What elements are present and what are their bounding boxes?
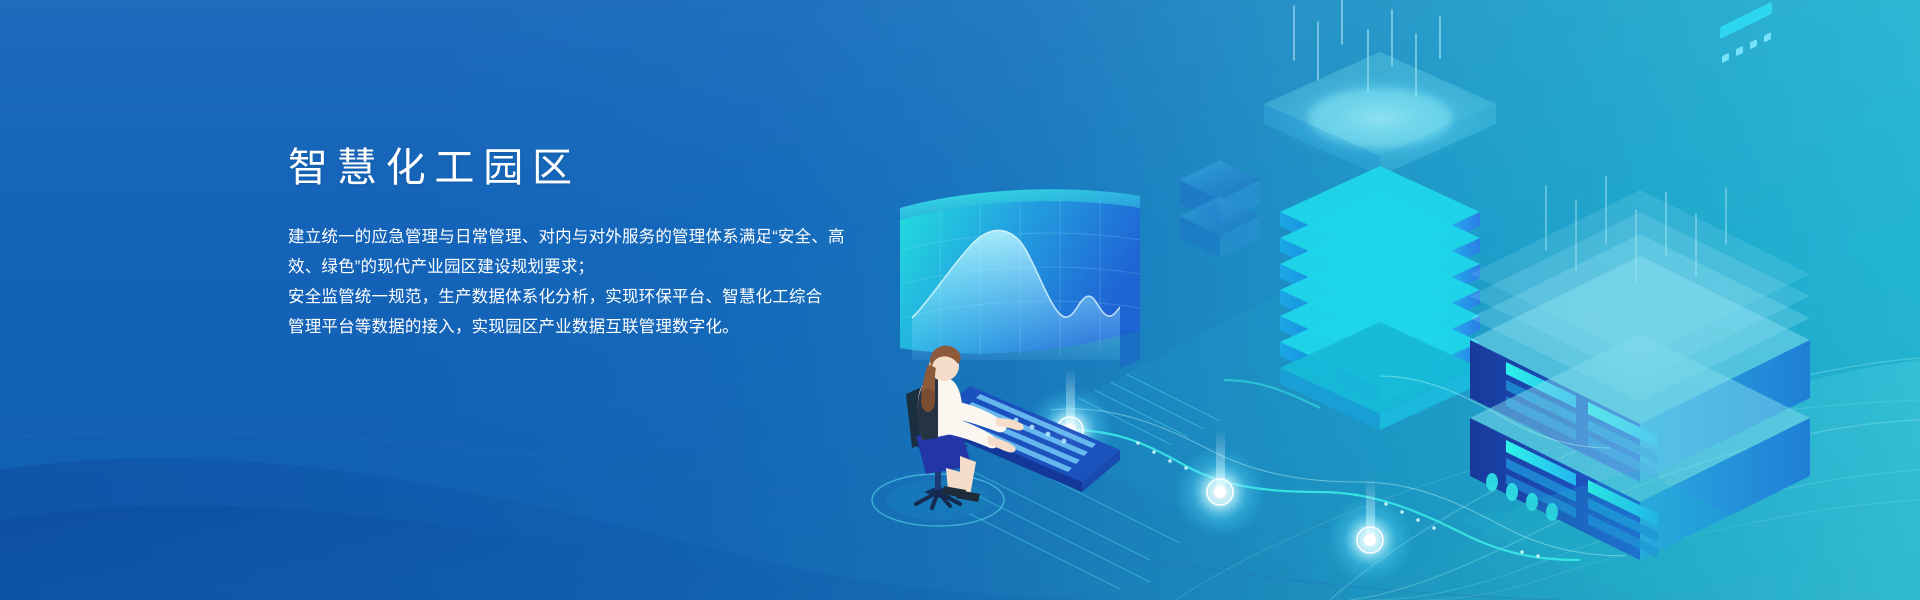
person-figure — [916, 346, 1024, 502]
cylindrical-server-tower — [1264, 0, 1496, 430]
datacenter-illustration — [820, 0, 1920, 600]
description-line-2: 效、绿色”的现代产业园区建设规划要求； — [288, 252, 888, 282]
hero-copy: 智慧化工园区 建立统一的应急管理与日常管理、对内与对外服务的管理体系满足“安全、… — [288, 148, 888, 342]
server-rack-unit — [1460, 0, 1820, 600]
curved-dashboard-screen — [900, 189, 1140, 368]
description-line-1: 建立统一的应急管理与日常管理、对内与对外服务的管理体系满足“安全、高 — [288, 222, 888, 252]
hero-banner: 智慧化工园区 建立统一的应急管理与日常管理、对内与对外服务的管理体系满足“安全、… — [0, 0, 1920, 600]
description-line-3: 安全监管统一规范，生产数据体系化分析，实现环保平台、智慧化工综合 — [288, 282, 888, 312]
description-line-4: 管理平台等数据的接入，实现园区产业数据互联管理数字化。 — [288, 312, 888, 342]
wave-left-deep — [0, 505, 900, 600]
hero-description: 建立统一的应急管理与日常管理、对内与对外服务的管理体系满足“安全、高 效、绿色”… — [288, 222, 888, 342]
page-title: 智慧化工园区 — [288, 148, 888, 188]
person-at-keyboard — [872, 346, 1120, 526]
floating-layers-cube — [1180, 160, 1260, 258]
